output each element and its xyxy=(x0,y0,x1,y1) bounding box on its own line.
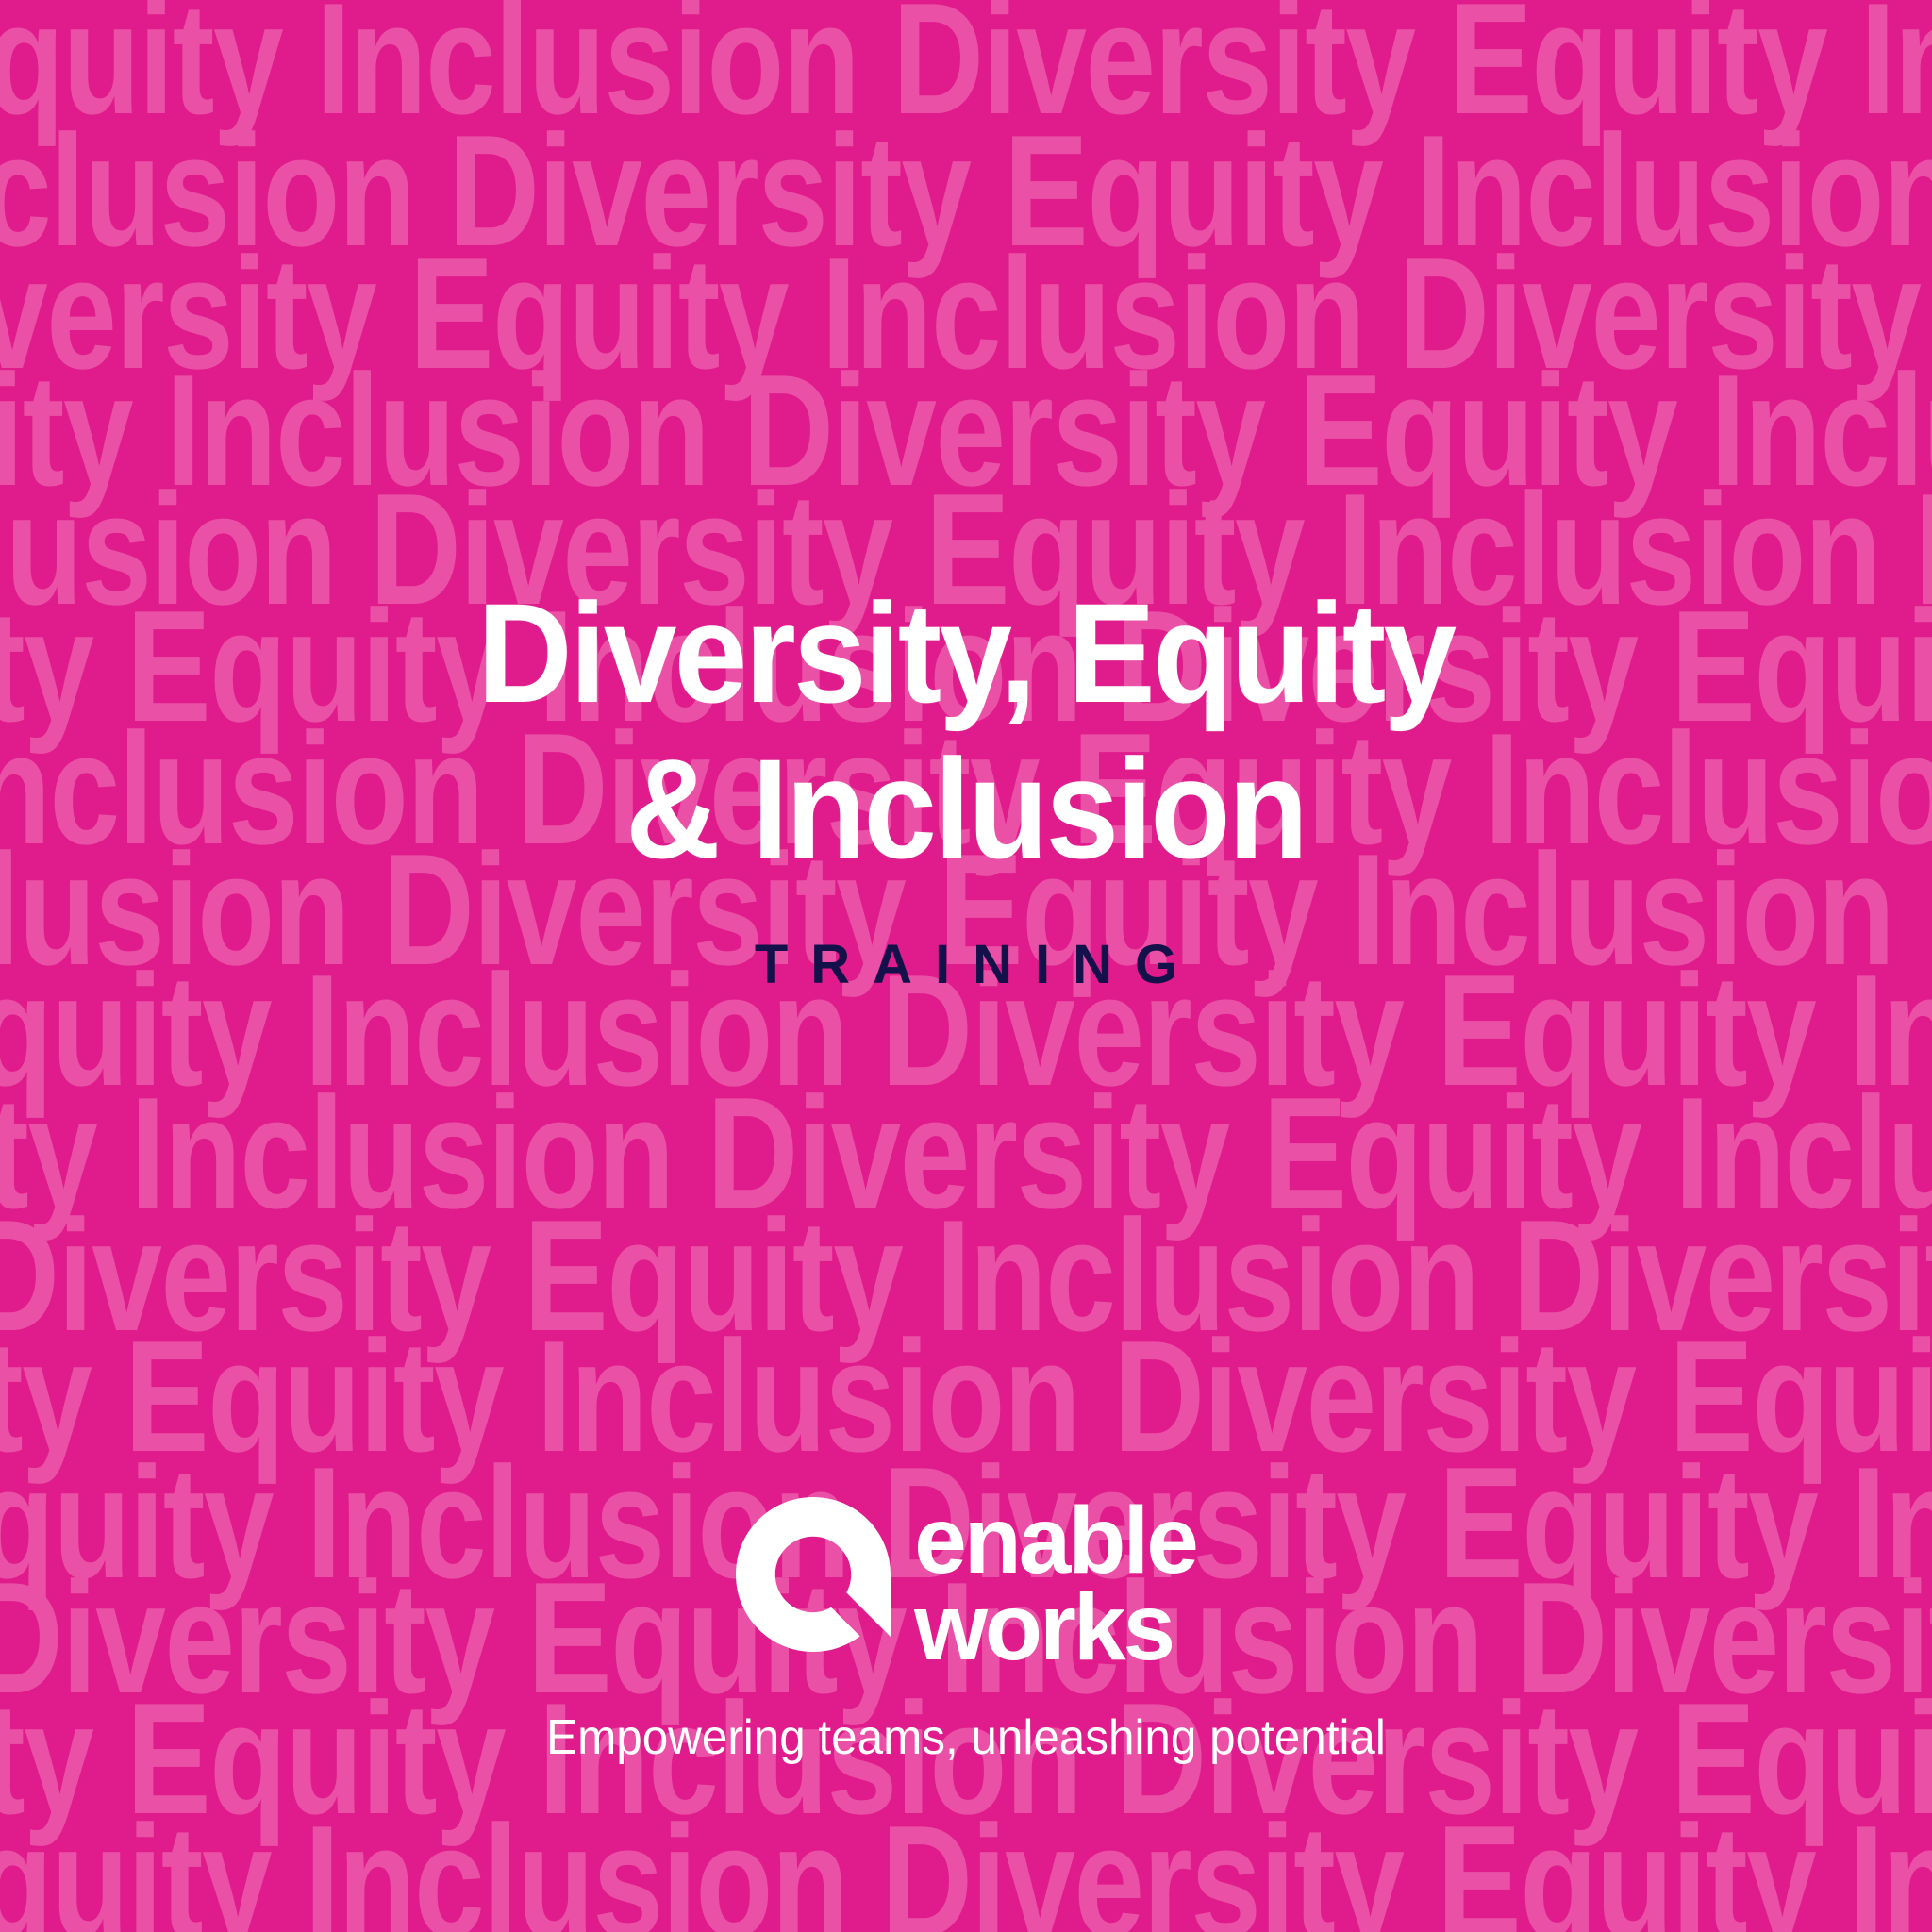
brand-logo[interactable]: enable works xyxy=(0,1493,1932,1671)
poster-content: Diversity, Equity & Inclusion TRAINING e… xyxy=(0,0,1932,1932)
brand-word-works: works xyxy=(914,1584,1196,1671)
page-title-line-2: & Inclusion xyxy=(477,731,1454,887)
page-title-line-1: Diversity, Equity xyxy=(477,575,1454,731)
subtitle-training: TRAINING xyxy=(732,938,1200,992)
page-title: Diversity, Equity & Inclusion xyxy=(477,575,1454,887)
brand-wordmark: enable works xyxy=(914,1497,1196,1671)
brand-word-enable: enable xyxy=(914,1497,1196,1584)
poster-canvas: quity Inclusion Diversity Equity Inclusi… xyxy=(0,0,1932,1932)
enableworks-q-mark-icon xyxy=(736,1497,901,1667)
brand-tagline: Empowering teams, unleashing potential xyxy=(48,1709,1884,1766)
